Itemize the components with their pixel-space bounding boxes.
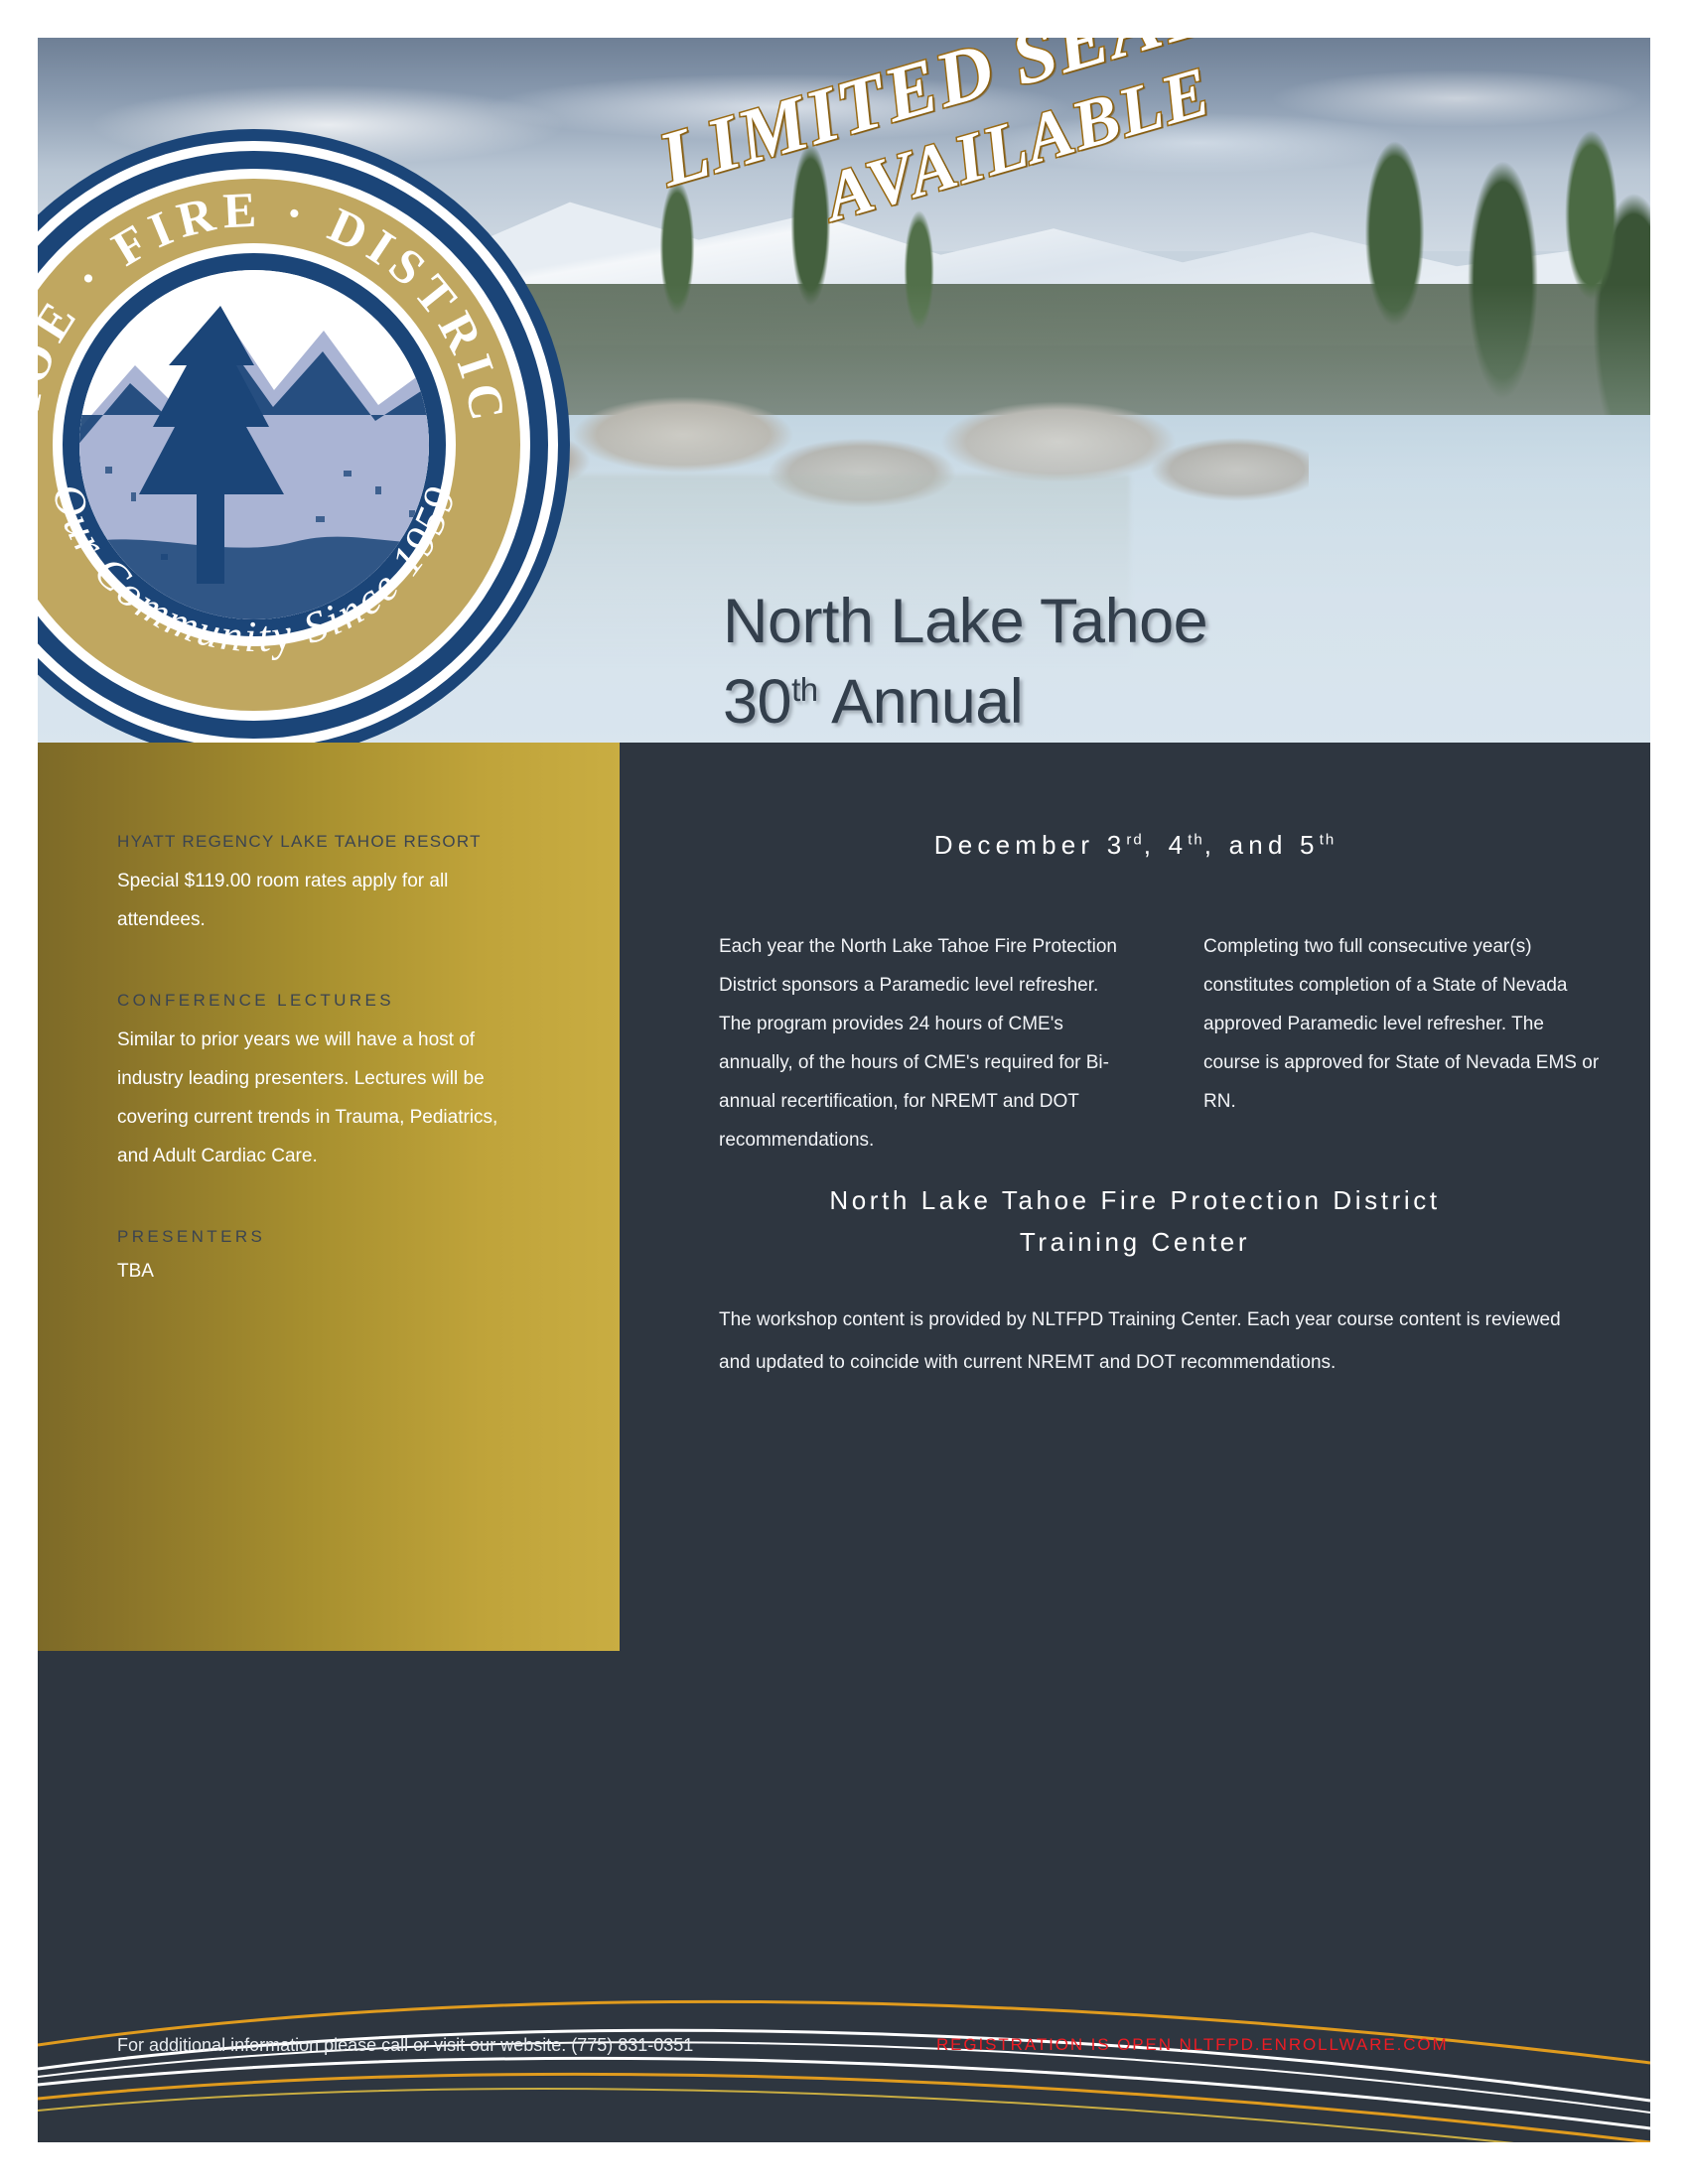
content-area: HYATT REGENCY LAKE TAHOE RESORT Special …	[38, 743, 1650, 2142]
sidebar-text-presenters: TBA	[117, 1257, 534, 1287]
hero-banner: TAHOE · FIRE · DISTRICT · Our Community …	[38, 38, 1650, 743]
event-dates: December 3rd, 4th, and 5th	[620, 830, 1650, 861]
training-center-heading: North Lake Tahoe Fire Protection Distric…	[620, 1179, 1650, 1263]
sidebar-heading-presenters: PRESENTERS	[117, 1227, 534, 1247]
footer-contact-text: For additional information please call o…	[117, 2035, 693, 2056]
date-day-2: 4	[1169, 830, 1189, 860]
swoosh-decoration	[38, 1815, 1650, 2142]
flyer-sheet: TAHOE · FIRE · DISTRICT · Our Community …	[38, 38, 1650, 2142]
sidebar-heading-lectures: CONFERENCE LECTURES	[117, 991, 534, 1011]
sidebar-block-venue: HYATT REGENCY LAKE TAHOE RESORT Special …	[117, 832, 534, 939]
column-right: Completing two full consecutive year(s) …	[1203, 927, 1603, 1160]
column-left: Each year the North Lake Tahoe Fire Prot…	[719, 927, 1118, 1160]
two-column-text: Each year the North Lake Tahoe Fire Prot…	[719, 927, 1603, 1160]
date-day-3-suffix: th	[1320, 831, 1336, 848]
footer: For additional information please call o…	[38, 2035, 1650, 2075]
date-day-2-suffix: th	[1188, 831, 1204, 848]
training-center-heading-line-2: Training Center	[620, 1221, 1650, 1263]
fire-district-seal-icon: TAHOE · FIRE · DISTRICT · Our Community …	[38, 117, 582, 743]
sidebar-heading-venue: HYATT REGENCY LAKE TAHOE RESORT	[117, 832, 534, 852]
title-year-suffix: th	[791, 671, 818, 708]
title-year-number: 30	[723, 667, 791, 737]
sidebar-content: HYATT REGENCY LAKE TAHOE RESORT Special …	[117, 832, 534, 1338]
date-separator-1: ,	[1144, 830, 1169, 860]
date-day-1-suffix: rd	[1126, 831, 1143, 848]
sidebar-block-presenters: PRESENTERS TBA	[117, 1227, 534, 1287]
sidebar-text-venue: Special $119.00 room rates apply for all…	[117, 862, 534, 939]
title-line-2: 30th Annual	[723, 662, 1597, 743]
sidebar-block-lectures: CONFERENCE LECTURES Similar to prior yea…	[117, 991, 534, 1175]
date-day-1: 3	[1107, 830, 1127, 860]
flyer-page: TAHOE · FIRE · DISTRICT · Our Community …	[0, 0, 1688, 2184]
date-month: December	[934, 830, 1107, 860]
column-left-paragraph: Each year the North Lake Tahoe Fire Prot…	[719, 927, 1118, 1160]
training-center-heading-line-1: North Lake Tahoe Fire Protection Distric…	[620, 1179, 1650, 1221]
main-content: December 3rd, 4th, and 5th Each year the…	[620, 743, 1650, 1651]
sidebar-text-lectures: Similar to prior years we will have a ho…	[117, 1021, 534, 1175]
column-right-paragraph: Completing two full consecutive year(s) …	[1203, 927, 1603, 1121]
footer-registration-link[interactable]: REGISTRATION IS OPEN NLTFPD.ENROLLWARE.C…	[936, 2035, 1449, 2055]
title-annual-word: Annual	[818, 667, 1024, 737]
training-center-body: The workshop content is provided by NLTF…	[719, 1298, 1563, 1384]
page-title: North Lake Tahoe 30th Annual Paramedic R…	[723, 582, 1597, 743]
date-day-3: 5	[1300, 830, 1320, 860]
title-line-1: North Lake Tahoe	[723, 582, 1597, 662]
date-separator-2: , and	[1204, 830, 1300, 860]
